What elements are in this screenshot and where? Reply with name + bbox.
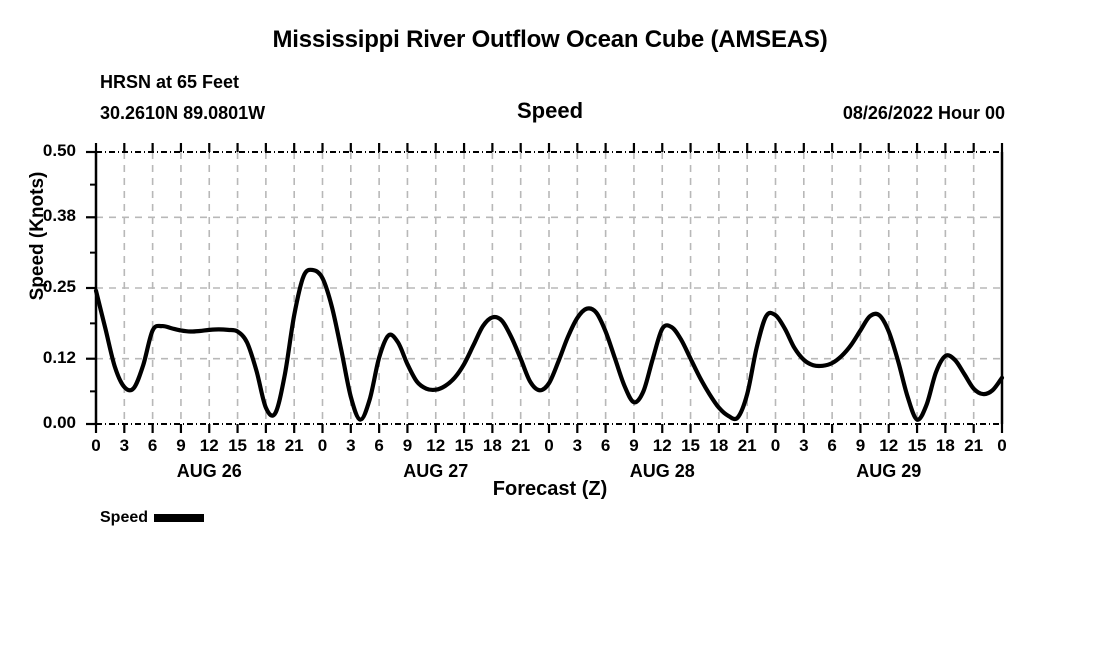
speed-line-chart <box>0 0 1100 650</box>
x-tick-label: 15 <box>449 436 479 456</box>
day-label: AUG 28 <box>602 461 722 482</box>
x-tick-label: 6 <box>138 436 168 456</box>
x-tick-label: 3 <box>109 436 139 456</box>
day-label: AUG 27 <box>376 461 496 482</box>
x-tick-label: 15 <box>902 436 932 456</box>
x-tick-label: 0 <box>987 436 1017 456</box>
x-tick-label: 12 <box>647 436 677 456</box>
legend: Speed <box>100 509 204 527</box>
x-tick-label: 0 <box>761 436 791 456</box>
day-label: AUG 26 <box>149 461 269 482</box>
x-tick-label: 21 <box>279 436 309 456</box>
x-tick-label: 15 <box>676 436 706 456</box>
x-tick-label: 9 <box>619 436 649 456</box>
day-label: AUG 29 <box>829 461 949 482</box>
x-tick-label: 12 <box>874 436 904 456</box>
x-tick-label: 18 <box>930 436 960 456</box>
x-tick-label: 12 <box>421 436 451 456</box>
x-tick-label: 21 <box>959 436 989 456</box>
y-tick-label: 0.50 <box>6 141 76 161</box>
legend-line-swatch <box>154 514 204 522</box>
x-tick-label: 0 <box>534 436 564 456</box>
series-layer <box>96 270 1002 420</box>
x-tick-label: 9 <box>166 436 196 456</box>
x-tick-label: 3 <box>336 436 366 456</box>
x-tick-label: 6 <box>817 436 847 456</box>
series-line-speed <box>96 270 1002 420</box>
x-tick-label: 12 <box>194 436 224 456</box>
x-tick-label: 21 <box>732 436 762 456</box>
x-tick-label: 6 <box>591 436 621 456</box>
y-tick-label: 0.25 <box>6 277 76 297</box>
x-tick-label: 21 <box>506 436 536 456</box>
chart-page: Mississippi River Outflow Ocean Cube (AM… <box>0 0 1100 650</box>
y-tick-label: 0.00 <box>6 413 76 433</box>
x-tick-label: 18 <box>704 436 734 456</box>
x-tick-label: 18 <box>477 436 507 456</box>
x-tick-label: 0 <box>308 436 338 456</box>
y-tick-label: 0.12 <box>6 348 76 368</box>
x-tick-label: 6 <box>364 436 394 456</box>
x-tick-label: 15 <box>223 436 253 456</box>
x-tick-label: 3 <box>562 436 592 456</box>
y-tick-label: 0.38 <box>6 206 76 226</box>
x-tick-label: 9 <box>845 436 875 456</box>
legend-label: Speed <box>100 509 148 527</box>
x-tick-label: 0 <box>81 436 111 456</box>
x-tick-label: 3 <box>789 436 819 456</box>
x-tick-label: 18 <box>251 436 281 456</box>
x-tick-label: 9 <box>392 436 422 456</box>
